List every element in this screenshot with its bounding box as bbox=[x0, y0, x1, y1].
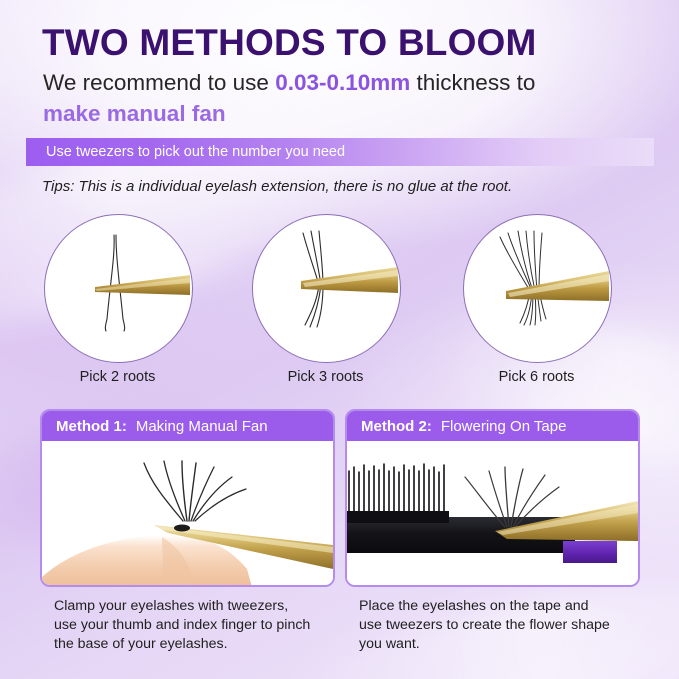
method-1-caption: Clamp your eyelashes with tweezers, use … bbox=[54, 597, 354, 654]
lashes-on-tape-photo bbox=[347, 441, 638, 587]
method-2-panel: Method 2: Flowering On Tape bbox=[345, 409, 640, 587]
method-2-header: Method 2: Flowering On Tape bbox=[347, 411, 638, 441]
caption-line: you want. bbox=[359, 635, 659, 654]
hand-pinching-lash-fan-photo bbox=[42, 441, 333, 587]
method-1-panel: Method 1: Making Manual Fan bbox=[40, 409, 335, 587]
caption-line: use your thumb and index finger to pinch bbox=[54, 616, 354, 635]
thickness-value: 0.03-0.10mm bbox=[275, 70, 410, 95]
method-1-title: Making Manual Fan bbox=[136, 418, 268, 435]
pick-roots-label: Pick 3 roots bbox=[252, 369, 399, 385]
caption-line: use tweezers to create the flower shape bbox=[359, 616, 659, 635]
caption-line: Clamp your eyelashes with tweezers, bbox=[54, 597, 354, 616]
method-2-number: Method 2: bbox=[361, 418, 432, 435]
tips-text: Tips: This is a individual eyelash exten… bbox=[42, 178, 512, 195]
caption-line: the base of your eyelashes. bbox=[54, 635, 354, 654]
recommendation-prefix: We recommend to use bbox=[43, 70, 275, 95]
method-2-caption: Place the eyelashes on the tape and use … bbox=[359, 597, 659, 654]
recommendation-suffix: thickness to bbox=[410, 70, 535, 95]
pick-roots-label: Pick 2 roots bbox=[44, 369, 191, 385]
pick-roots-row: Pick 2 roots bbox=[0, 214, 679, 399]
tweezers-lashes-icon bbox=[463, 214, 612, 363]
tweezers-lashes-icon bbox=[44, 214, 193, 363]
pick-roots-label: Pick 6 roots bbox=[463, 369, 610, 385]
caption-line: Place the eyelashes on the tape and bbox=[359, 597, 659, 616]
pick-roots-item: Pick 3 roots bbox=[252, 214, 422, 399]
method-1-header: Method 1: Making Manual Fan bbox=[42, 411, 333, 441]
recommendation-line-2: make manual fan bbox=[43, 101, 226, 127]
instruction-banner-text: Use tweezers to pick out the number you … bbox=[46, 144, 345, 160]
method-2-title: Flowering On Tape bbox=[441, 418, 567, 435]
method-1-number: Method 1: bbox=[56, 418, 127, 435]
tweezers-lashes-icon bbox=[252, 214, 401, 363]
pick-roots-item: Pick 2 roots bbox=[44, 214, 214, 399]
pick-roots-item: Pick 6 roots bbox=[463, 214, 633, 399]
recommendation-line: We recommend to use 0.03-0.10mm thicknes… bbox=[43, 70, 535, 96]
instruction-banner: Use tweezers to pick out the number you … bbox=[26, 138, 654, 166]
infographic-page: TWO METHODS TO BLOOM We recommend to use… bbox=[0, 0, 679, 679]
page-title: TWO METHODS TO BLOOM bbox=[42, 22, 537, 64]
